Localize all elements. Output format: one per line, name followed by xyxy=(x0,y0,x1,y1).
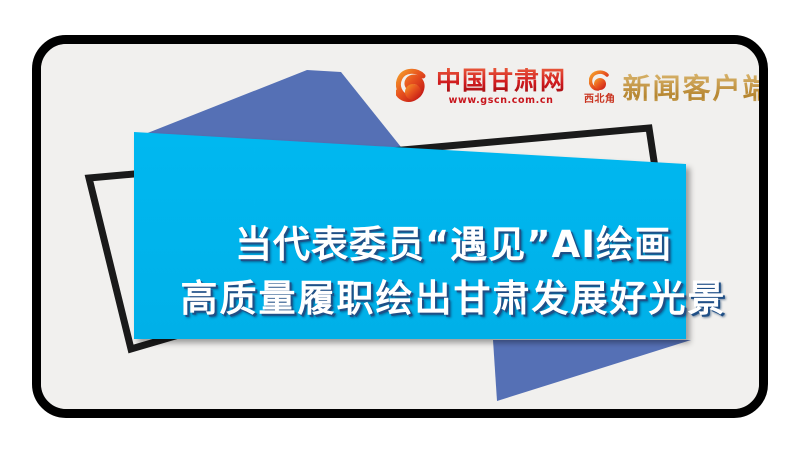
gscn-text-column: 中国甘肃网 www.gscn.com.cn xyxy=(436,68,566,106)
gscn-swirl-icon xyxy=(396,67,430,107)
gscn-logo: 中国甘肃网 www.gscn.com.cn xyxy=(396,67,566,107)
xibeijiao-logo: 西北角 新闻客户端 xyxy=(584,67,759,107)
xibeijiao-mark-label: 西北角 xyxy=(584,95,616,105)
purple-wing-lower xyxy=(493,340,691,401)
logo-strip: 中国甘肃网 www.gscn.com.cn xyxy=(396,60,759,114)
gscn-url-label: www.gscn.com.cn xyxy=(449,96,554,106)
poster-canvas: 中国甘肃网 www.gscn.com.cn xyxy=(0,0,800,450)
artwork-stage: 中国甘肃网 www.gscn.com.cn xyxy=(41,44,759,409)
xibeijiao-title-label: 新闻客户端 xyxy=(623,67,759,107)
cyan-headline-banner xyxy=(134,132,686,339)
gscn-name-label: 中国甘肃网 xyxy=(436,68,566,93)
xibeijiao-mark-wrap: 西北角 xyxy=(584,70,616,105)
xibeijiao-swirl-icon xyxy=(589,70,611,94)
